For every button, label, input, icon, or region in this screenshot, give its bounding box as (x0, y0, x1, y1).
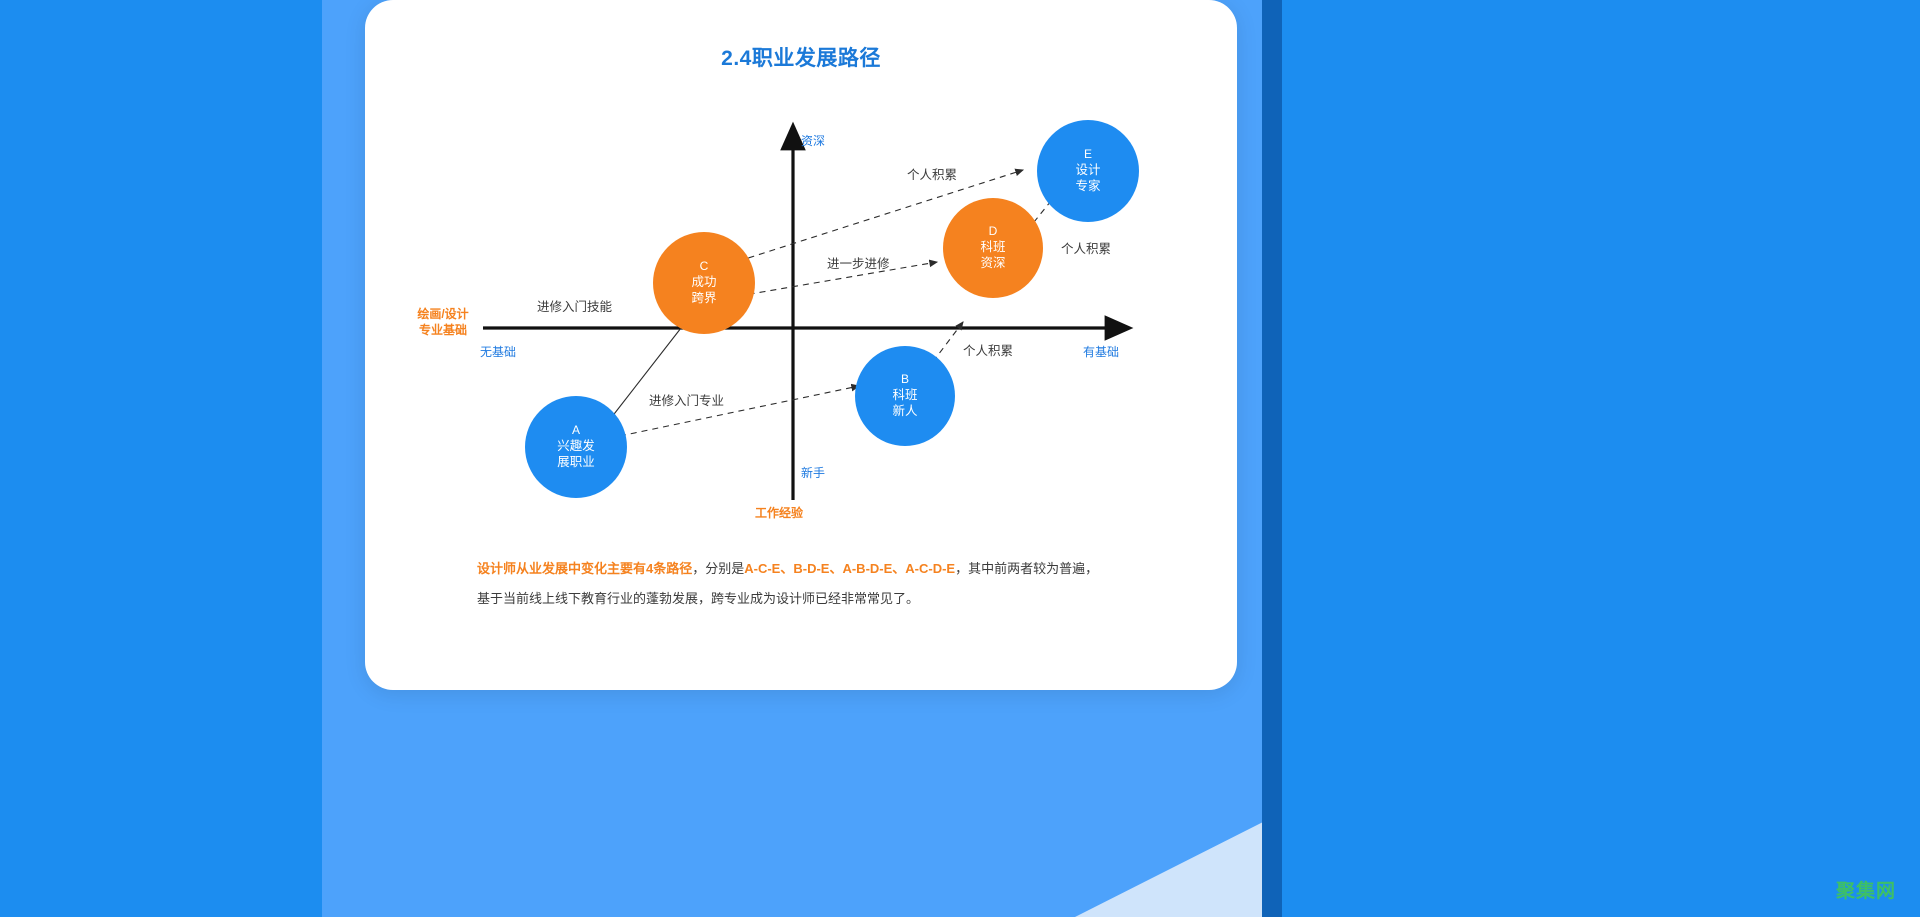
node-c-line1: 成功 (691, 275, 716, 291)
axis-label-has-foundation: 有基础 (1083, 343, 1119, 360)
node-d-line1: 科班 (980, 240, 1005, 256)
edge-label-c-to-e: 个人积累 (907, 164, 957, 183)
axis-title-work-experience: 工作经验 (755, 505, 803, 521)
axis-label-novice: 新手 (801, 464, 825, 481)
node-b-line1: 科班 (892, 388, 917, 404)
page-title: 2.4职业发展路径 (365, 42, 1237, 72)
node-c-key: C (700, 259, 709, 274)
footer-line-2: 基于当前线上线下教育行业的蓬勃发展，跨专业成为设计师已经非常常见了。 (477, 584, 1157, 614)
career-path-diagram: 资深 新手 工作经验 无基础 有基础 绘画/设计 专业基础 进修入门技能 进修入… (365, 100, 1237, 530)
axis-title-design-foundation: 绘画/设计 专业基础 (401, 306, 485, 338)
node-a-line2: 展职业 (557, 455, 595, 471)
footer-description: 设计师从业发展中变化主要有4条路径，分别是A-C-E、B-D-E、A-B-D-E… (477, 554, 1157, 614)
edge-label-d-to-e: 个人积累 (1061, 238, 1111, 257)
background-band-right (1282, 0, 1920, 917)
node-a-key: A (572, 423, 580, 438)
node-c-line2: 跨界 (691, 291, 716, 307)
edge-label-b-to-d: 个人积累 (963, 340, 1013, 359)
footer-mid: ，分别是 (692, 561, 744, 576)
slide-card: 2.4职业发展路径 (365, 0, 1237, 690)
node-b-line2: 新人 (892, 404, 917, 420)
node-b[interactable]: B 科班 新人 (855, 346, 955, 446)
node-d-key: D (989, 224, 998, 239)
footer-tail: ，其中前两者较为普遍， (955, 561, 1098, 576)
node-b-key: B (901, 372, 909, 387)
axis-title-line2: 专业基础 (401, 322, 485, 338)
watermark: 聚集网 (1836, 876, 1896, 903)
node-e-line2: 专家 (1075, 179, 1100, 195)
node-e-line1: 设计 (1075, 163, 1100, 179)
node-a[interactable]: A 兴趣发 展职业 (525, 396, 627, 498)
node-e-key: E (1084, 147, 1092, 162)
node-e[interactable]: E 设计 专家 (1037, 120, 1139, 222)
edge-label-c-to-d: 进一步进修 (827, 253, 890, 272)
node-d-line2: 资深 (980, 256, 1005, 272)
edge-label-a-to-b: 进修入门专业 (649, 390, 724, 409)
background-divider (1262, 0, 1282, 917)
background-band-left (0, 0, 322, 917)
footer-highlight: 设计师从业发展中变化主要有4条路径 (477, 561, 692, 576)
axis-label-senior: 资深 (801, 132, 825, 149)
edge-label-a-to-c: 进修入门技能 (537, 296, 612, 315)
axis-label-no-foundation: 无基础 (480, 343, 516, 360)
footer-line-1: 设计师从业发展中变化主要有4条路径，分别是A-C-E、B-D-E、A-B-D-E… (477, 554, 1157, 584)
node-d[interactable]: D 科班 资深 (943, 198, 1043, 298)
node-a-line1: 兴趣发 (557, 439, 595, 455)
footer-paths: A-C-E、B-D-E、A-B-D-E、A-C-D-E (744, 561, 955, 576)
axis-title-line1: 绘画/设计 (401, 306, 485, 322)
node-c[interactable]: C 成功 跨界 (653, 232, 755, 334)
